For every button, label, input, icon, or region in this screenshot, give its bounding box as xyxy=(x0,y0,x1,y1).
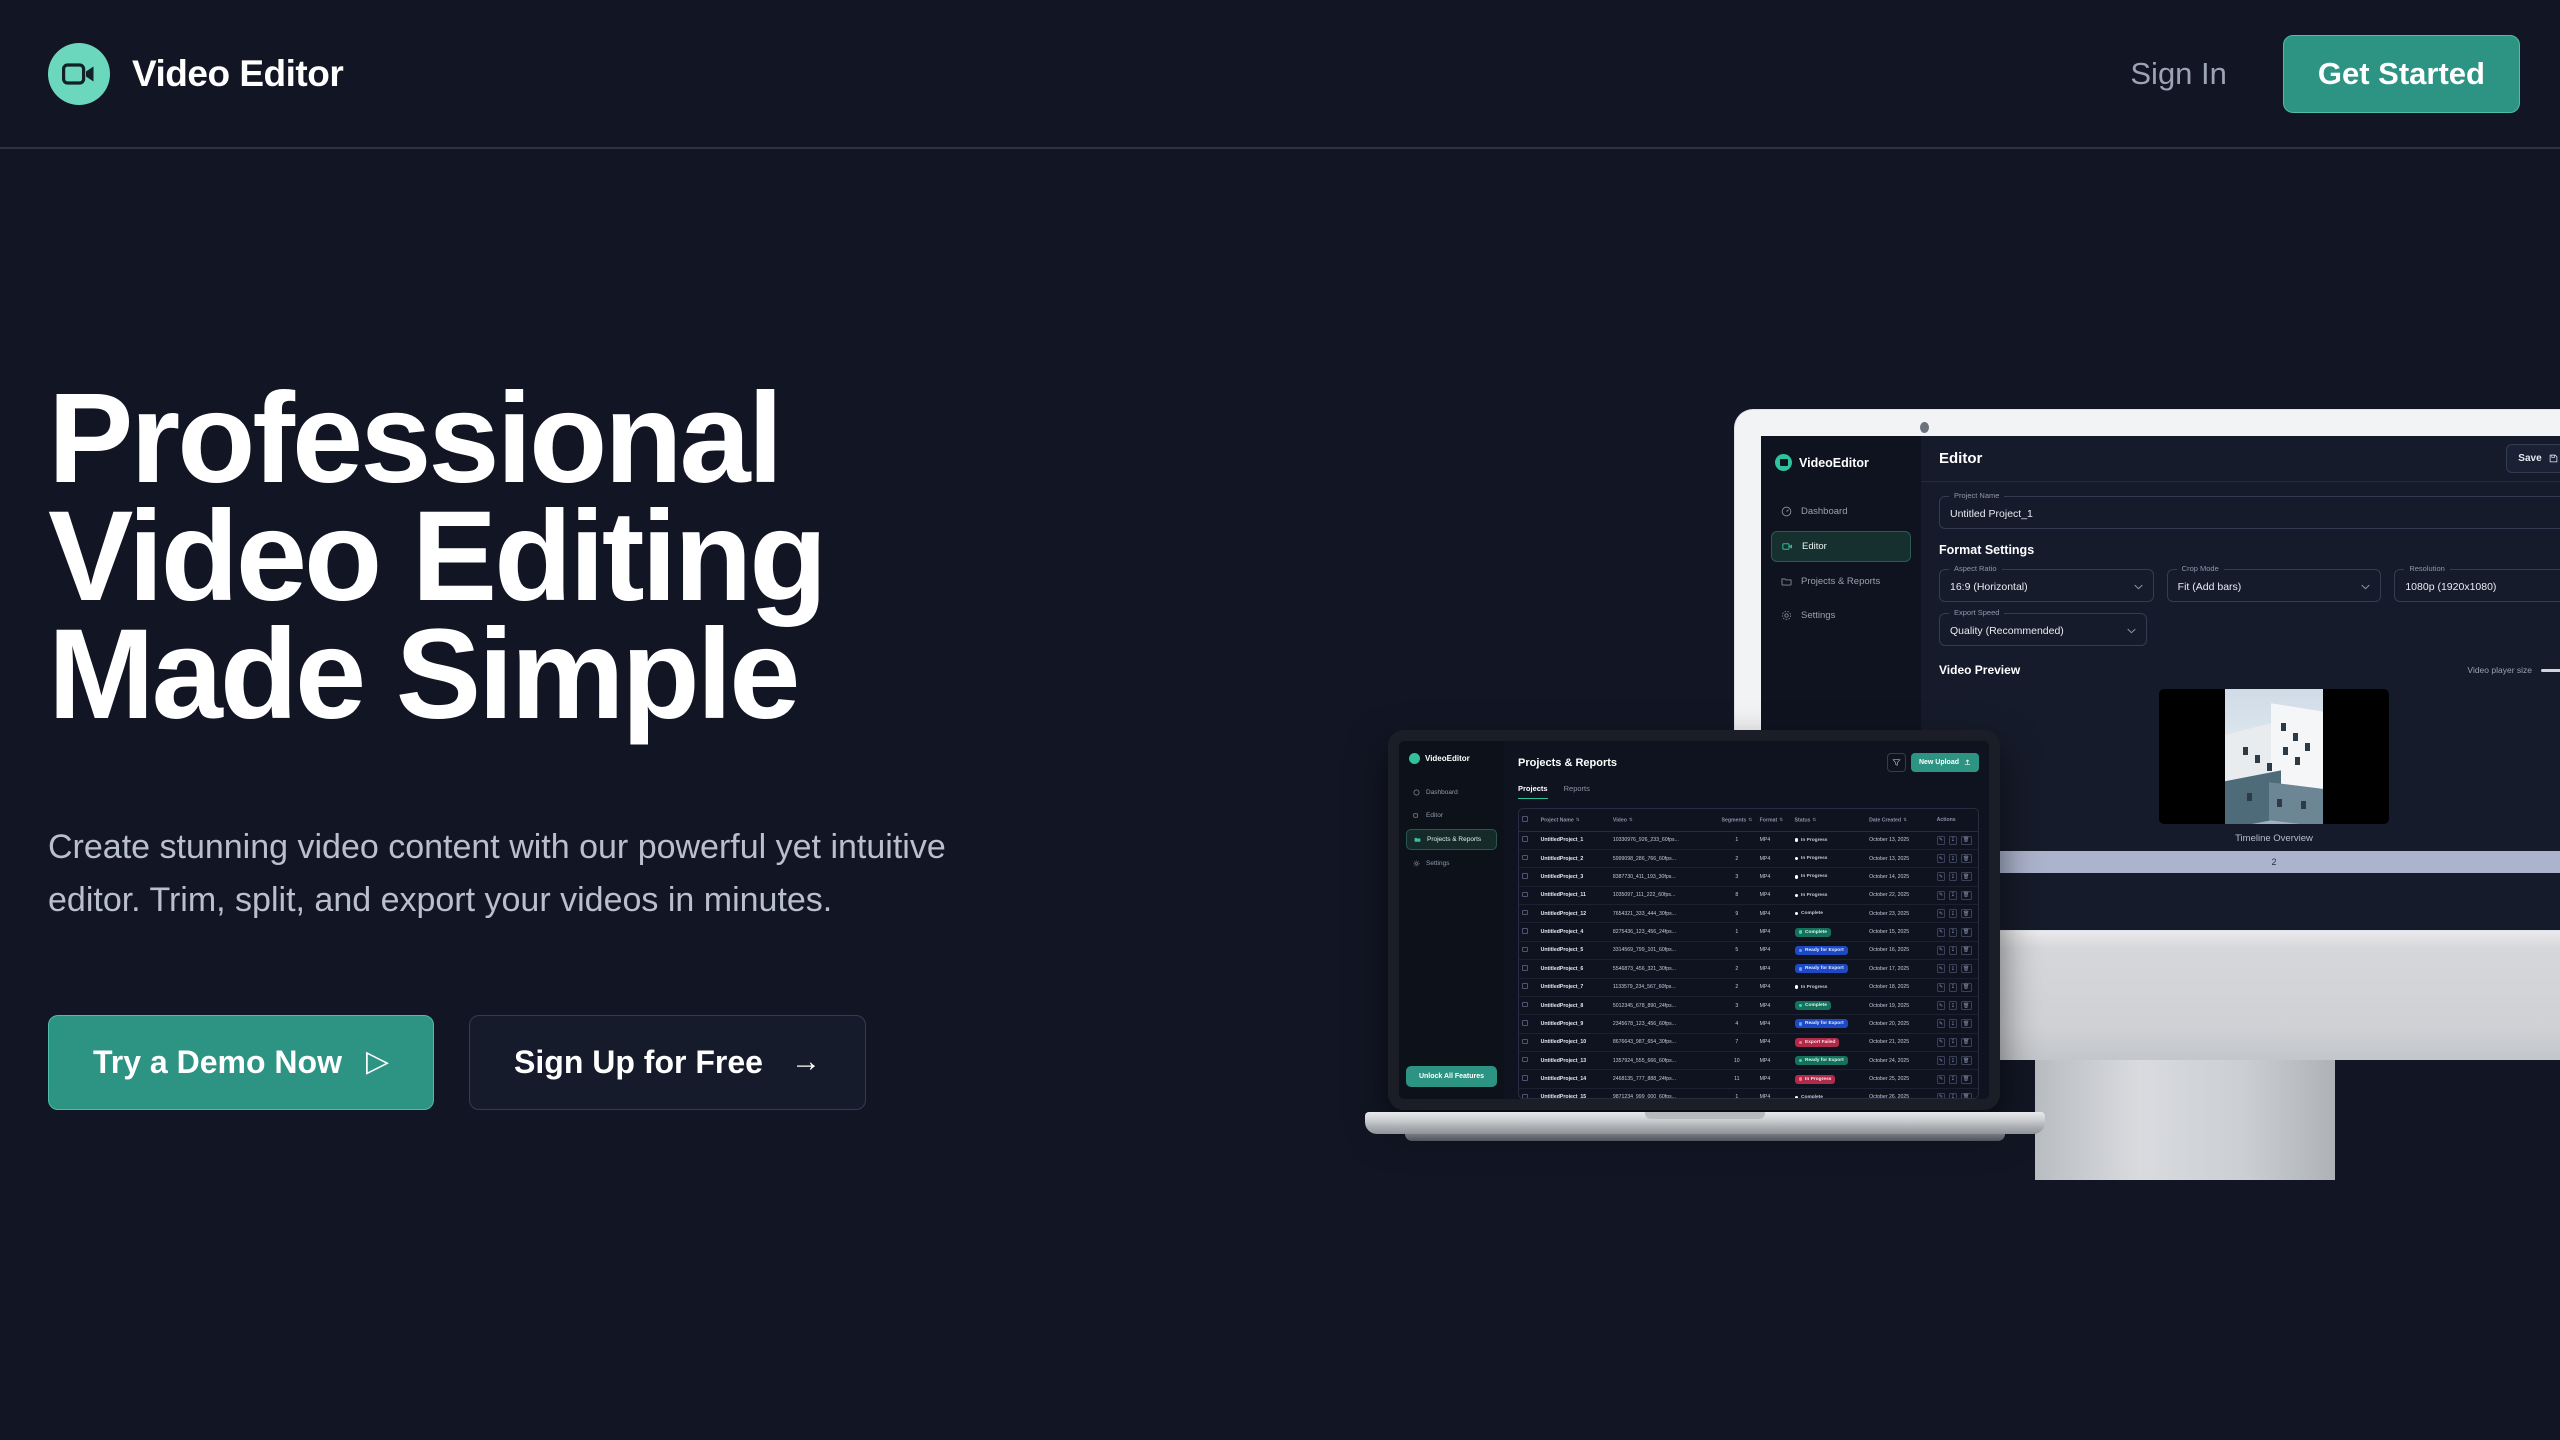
cell-video: 10330976_926_233_60fps... xyxy=(1610,831,1717,849)
cell-project-name: UntitledProject_15 xyxy=(1538,1088,1610,1099)
cell-actions: ✎↧🗑 xyxy=(1934,886,1978,904)
row-checkbox[interactable] xyxy=(1519,1015,1538,1033)
tab-reports[interactable]: Reports xyxy=(1564,784,1590,799)
table-row[interactable]: UntitledProject_85012345_678_890_24fps..… xyxy=(1519,996,1978,1014)
folder-icon xyxy=(1781,576,1792,587)
column-select-all[interactable] xyxy=(1519,809,1538,831)
sort-icon[interactable]: ⇅ xyxy=(1629,817,1633,823)
edit-icon[interactable]: ✎ xyxy=(1937,1001,1946,1010)
cell-status: Complete xyxy=(1792,1088,1867,1099)
checkbox-icon[interactable] xyxy=(1522,1020,1528,1026)
row-checkbox[interactable] xyxy=(1519,978,1538,996)
heading-line-1: Professional xyxy=(48,380,1148,498)
export-speed-select[interactable]: Export Speed Quality (Recommended) xyxy=(1939,613,2147,646)
cell-date-created: October 13, 2025 xyxy=(1866,831,1934,849)
table-row[interactable]: UntitledProject_159871234_999_000_60fps.… xyxy=(1519,1088,1978,1099)
sign-in-button[interactable]: Sign In xyxy=(2130,56,2227,92)
column-segments[interactable]: Segments⇅ xyxy=(1717,809,1757,831)
filter-funnel-icon[interactable] xyxy=(1887,753,1906,772)
sidebar-item-label: Editor xyxy=(1802,541,1827,552)
edit-icon[interactable]: ✎ xyxy=(1937,964,1946,973)
column-video[interactable]: Video⇅ xyxy=(1610,809,1717,831)
cell-segments: 1 xyxy=(1717,831,1757,849)
unlock-all-features-button[interactable]: Unlock All Features xyxy=(1406,1066,1497,1087)
cell-actions: ✎↧🗑 xyxy=(1934,849,1978,867)
cell-date-created: October 24, 2025 xyxy=(1866,1052,1934,1070)
laptop-notch xyxy=(1645,1112,1765,1119)
cell-date-created: October 19, 2025 xyxy=(1866,996,1934,1014)
edit-icon[interactable]: ✎ xyxy=(1937,983,1946,992)
status-badge: In Progress xyxy=(1795,872,1832,881)
upload-icon xyxy=(1964,759,1971,766)
sidebar-item-editor[interactable]: Editor xyxy=(1406,806,1497,825)
project-name-value: Untitled Project_1 xyxy=(1950,508,2560,520)
checkbox-icon[interactable] xyxy=(1522,965,1528,971)
download-icon[interactable]: ↧ xyxy=(1949,928,1958,937)
checkbox-icon[interactable] xyxy=(1522,1094,1528,1099)
laptop-page-header: Projects & Reports New Upload xyxy=(1518,753,1979,772)
table-body: UntitledProject_110330976_926_233_60fps.… xyxy=(1519,831,1978,1099)
cell-format: MP4 xyxy=(1757,960,1792,978)
cell-project-name: UntitledProject_8 xyxy=(1538,996,1610,1014)
delete-icon[interactable]: 🗑 xyxy=(1961,983,1972,992)
cell-status: Ready for Export xyxy=(1792,1015,1867,1033)
edit-icon[interactable]: ✎ xyxy=(1937,1056,1946,1065)
laptop-brand: VideoEditor xyxy=(1406,753,1497,764)
laptop-brand-name: VideoEditor xyxy=(1425,754,1470,763)
download-icon[interactable]: ↧ xyxy=(1949,891,1958,900)
cell-video: 2468135_777_888_24fps... xyxy=(1610,1070,1717,1088)
delete-icon[interactable]: 🗑 xyxy=(1961,928,1972,937)
video-camera-icon xyxy=(1413,812,1420,819)
sort-icon[interactable]: ⇅ xyxy=(1576,817,1580,823)
sidebar-item-label: Projects & Reports xyxy=(1801,576,1880,587)
sign-up-free-label: Sign Up for Free xyxy=(514,1044,763,1081)
sidebar-item-label: Settings xyxy=(1801,610,1835,621)
editor-topbar-actions: Save Exp xyxy=(2506,444,2560,473)
arrow-right-icon: → xyxy=(791,1047,821,1077)
cell-status: Complete xyxy=(1792,996,1867,1014)
cell-video: 8676643_987_654_30fps... xyxy=(1610,1033,1717,1051)
chevron-down-icon xyxy=(2134,583,2143,589)
checkbox-icon[interactable] xyxy=(1522,1039,1528,1045)
cell-actions: ✎↧🗑 xyxy=(1934,905,1978,923)
delete-icon[interactable]: 🗑 xyxy=(1961,1056,1972,1065)
cell-actions: ✎↧🗑 xyxy=(1934,831,1978,849)
editor-brand-name: VideoEditor xyxy=(1799,456,1869,470)
crop-mode-select[interactable]: Crop Mode Fit (Add bars) xyxy=(2167,569,2382,602)
cell-format: MP4 xyxy=(1757,831,1792,849)
download-icon[interactable]: ↧ xyxy=(1949,1075,1958,1084)
download-icon[interactable]: ↧ xyxy=(1949,854,1958,863)
cell-actions: ✎↧🗑 xyxy=(1934,960,1978,978)
aspect-ratio-value: 16:9 (Horizontal) xyxy=(1950,581,2143,593)
edit-icon[interactable]: ✎ xyxy=(1937,872,1946,881)
cell-status: In Progress xyxy=(1792,849,1867,867)
cell-status: In Progress xyxy=(1792,1070,1867,1088)
gear-icon xyxy=(1413,860,1420,867)
row-checkbox[interactable] xyxy=(1519,996,1538,1014)
sidebar-item-settings[interactable]: Settings xyxy=(1406,854,1497,873)
cell-project-name: UntitledProject_13 xyxy=(1538,1052,1610,1070)
checkbox-icon[interactable] xyxy=(1522,855,1528,861)
cell-actions: ✎↧🗑 xyxy=(1934,978,1978,996)
table-row[interactable]: UntitledProject_92345678_123_456_60fps..… xyxy=(1519,1015,1978,1033)
laptop-header-actions: New Upload xyxy=(1887,753,1979,772)
cell-project-name: UntitledProject_4 xyxy=(1538,923,1610,941)
cell-segments: 7 xyxy=(1717,1033,1757,1051)
status-badge: Ready for Export xyxy=(1795,964,1848,973)
sidebar-item-settings[interactable]: Settings xyxy=(1771,601,1911,630)
delete-icon[interactable]: 🗑 xyxy=(1961,1075,1972,1084)
editor-nav: Dashboard Editor Projects & Reports xyxy=(1771,497,1911,630)
status-badge: In Progress xyxy=(1795,836,1832,845)
delete-icon[interactable]: 🗑 xyxy=(1961,946,1972,955)
download-icon[interactable]: ↧ xyxy=(1949,946,1958,955)
sidebar-item-dashboard[interactable]: Dashboard xyxy=(1771,497,1911,526)
cell-format: MP4 xyxy=(1757,849,1792,867)
cell-video: 3314569_799_101_60fps... xyxy=(1610,941,1717,959)
player-size-slider[interactable] xyxy=(2541,669,2560,672)
edit-icon[interactable]: ✎ xyxy=(1937,1093,1946,1099)
cell-project-name: UntitledProject_14 xyxy=(1538,1070,1610,1088)
try-demo-label: Try a Demo Now xyxy=(93,1044,342,1081)
download-icon[interactable]: ↧ xyxy=(1949,872,1958,881)
cell-project-name: UntitledProject_9 xyxy=(1538,1015,1610,1033)
editor-brand: VideoEditor xyxy=(1771,454,1911,471)
delete-icon[interactable]: 🗑 xyxy=(1961,1093,1972,1099)
cell-date-created: October 15, 2025 xyxy=(1866,923,1934,941)
cell-video: 1035097_111_222_60fps... xyxy=(1610,886,1717,904)
status-badge: Complete xyxy=(1795,1093,1827,1099)
cell-project-name: UntitledProject_3 xyxy=(1538,868,1610,886)
cell-project-name: UntitledProject_6 xyxy=(1538,960,1610,978)
new-upload-label: New Upload xyxy=(1919,759,1959,766)
edit-icon[interactable]: ✎ xyxy=(1937,854,1946,863)
cell-status: In Progress xyxy=(1792,831,1867,849)
cell-segments: 2 xyxy=(1717,978,1757,996)
cell-status: In Progress xyxy=(1792,886,1867,904)
project-name-field[interactable]: Project Name Untitled Project_1 xyxy=(1939,496,2560,529)
status-badge: Ready for Export xyxy=(1795,1056,1848,1065)
table-row[interactable]: UntitledProject_127654321_333_444_30fps.… xyxy=(1519,905,1978,923)
edit-icon[interactable]: ✎ xyxy=(1937,909,1946,918)
cell-actions: ✎↧🗑 xyxy=(1934,1052,1978,1070)
format-row-2: Export Speed Quality (Recommended) xyxy=(1939,613,2560,657)
cell-segments: 10 xyxy=(1717,1052,1757,1070)
resolution-label: Resolution xyxy=(2404,564,2449,573)
row-checkbox[interactable] xyxy=(1519,941,1538,959)
video-camera-icon xyxy=(1775,454,1792,471)
sign-up-free-button[interactable]: Sign Up for Free → xyxy=(469,1015,866,1110)
table-row[interactable]: UntitledProject_71133579_234_567_60fps..… xyxy=(1519,978,1978,996)
checkbox-icon[interactable] xyxy=(1522,1057,1528,1063)
cell-segments: 1 xyxy=(1717,1088,1757,1099)
download-icon[interactable]: ↧ xyxy=(1949,1001,1958,1010)
projects-table: Project Name⇅ Video⇅ Segments⇅ Format⇅ S… xyxy=(1519,809,1978,1099)
download-icon[interactable]: ↧ xyxy=(1949,836,1958,845)
row-checkbox[interactable] xyxy=(1519,960,1538,978)
save-label: Save xyxy=(2518,453,2541,464)
cell-date-created: October 25, 2025 xyxy=(1866,1070,1934,1088)
sidebar-item-projects-reports[interactable]: Projects & Reports xyxy=(1771,567,1911,596)
table-row[interactable]: UntitledProject_131357924_555_666_60fps.… xyxy=(1519,1052,1978,1070)
brand-name: Video Editor xyxy=(132,53,343,95)
row-checkbox[interactable] xyxy=(1519,1070,1538,1088)
delete-icon[interactable]: 🗑 xyxy=(1961,964,1972,973)
cell-actions: ✎↧🗑 xyxy=(1934,1015,1978,1033)
checkbox-icon[interactable] xyxy=(1522,892,1528,898)
save-button[interactable]: Save xyxy=(2506,444,2560,473)
page-title: Professional Video Editing Made Simple xyxy=(48,380,1148,733)
crop-mode-label: Crop Mode xyxy=(2177,564,2224,573)
download-icon[interactable]: ↧ xyxy=(1949,983,1958,992)
cell-date-created: October 23, 2025 xyxy=(1866,905,1934,923)
brand-logo-group[interactable]: Video Editor xyxy=(48,43,343,105)
cell-format: MP4 xyxy=(1757,923,1792,941)
cell-status: Ready for Export xyxy=(1792,941,1867,959)
chevron-down-icon xyxy=(2127,627,2136,633)
status-badge: In Progress xyxy=(1795,983,1832,992)
cell-date-created: October 21, 2025 xyxy=(1866,1033,1934,1051)
monitor-camera-icon xyxy=(1920,422,1929,433)
new-upload-button[interactable]: New Upload xyxy=(1911,753,1979,772)
cell-video: 8387730_411_193_30fps... xyxy=(1610,868,1717,886)
row-checkbox[interactable] xyxy=(1519,868,1538,886)
sidebar-item-label: Dashboard xyxy=(1426,789,1458,796)
laptop-screen: VideoEditor Dashboard Editor xyxy=(1399,741,1989,1099)
column-actions: Actions xyxy=(1934,809,1978,831)
row-checkbox[interactable] xyxy=(1519,923,1538,941)
play-triangle-icon: ▷ xyxy=(366,1047,389,1077)
row-checkbox[interactable] xyxy=(1519,886,1538,904)
sort-icon[interactable]: ⇅ xyxy=(1812,817,1816,823)
cell-segments: 5 xyxy=(1717,941,1757,959)
sidebar-item-label: Projects & Reports xyxy=(1427,836,1481,843)
sidebar-item-editor[interactable]: Editor xyxy=(1771,531,1911,562)
delete-icon[interactable]: 🗑 xyxy=(1961,854,1972,863)
hero-subtitle: Create stunning video content with our p… xyxy=(48,821,1108,926)
column-project-name[interactable]: Project Name⇅ xyxy=(1538,809,1610,831)
edit-icon[interactable]: ✎ xyxy=(1937,836,1946,845)
project-name-label: Project Name xyxy=(1949,491,2004,500)
player-size-label: Video player size xyxy=(2467,665,2532,675)
cell-segments: 3 xyxy=(1717,996,1757,1014)
aspect-ratio-select[interactable]: Aspect Ratio 16:9 (Horizontal) xyxy=(1939,569,2154,602)
laptop-page-title: Projects & Reports xyxy=(1518,757,1617,769)
cell-video: 1357924_555_666_60fps... xyxy=(1610,1052,1717,1070)
cell-segments: 4 xyxy=(1717,1015,1757,1033)
format-settings-title: Format Settings xyxy=(1939,543,2560,557)
cell-format: MP4 xyxy=(1757,1015,1792,1033)
sort-icon[interactable]: ⇅ xyxy=(1779,817,1783,823)
cell-actions: ✎↧🗑 xyxy=(1934,1033,1978,1051)
cell-segments: 8 xyxy=(1717,886,1757,904)
cell-project-name: UntitledProject_12 xyxy=(1538,905,1610,923)
try-demo-button[interactable]: Try a Demo Now ▷ xyxy=(48,1015,434,1110)
checkbox-icon[interactable] xyxy=(1522,1075,1528,1081)
tab-projects[interactable]: Projects xyxy=(1518,784,1548,799)
edit-icon[interactable]: ✎ xyxy=(1937,1075,1946,1084)
sidebar-item-dashboard[interactable]: Dashboard xyxy=(1406,783,1497,802)
speedometer-icon xyxy=(1781,506,1792,517)
cell-video: 1133579_234_567_60fps... xyxy=(1610,978,1717,996)
table-row[interactable]: UntitledProject_65546873_456_321_30fps..… xyxy=(1519,960,1978,978)
edit-icon[interactable]: ✎ xyxy=(1937,891,1946,900)
video-camera-icon xyxy=(1782,541,1793,552)
aspect-ratio-label: Aspect Ratio xyxy=(1949,564,2002,573)
video-camera-icon xyxy=(48,43,110,105)
laptop-foot xyxy=(1405,1134,2005,1141)
export-speed-value: Quality (Recommended) xyxy=(1950,625,2136,637)
hero-subtitle-line-2: editor. Trim, split, and export your vid… xyxy=(48,874,1108,927)
checkbox-icon[interactable] xyxy=(1522,873,1528,879)
download-icon[interactable]: ↧ xyxy=(1949,1056,1958,1065)
cell-status: Ready for Export xyxy=(1792,960,1867,978)
status-badge: Export Failed xyxy=(1795,1038,1840,1047)
table-header-row: Project Name⇅ Video⇅ Segments⇅ Format⇅ S… xyxy=(1519,809,1978,831)
cell-actions: ✎↧🗑 xyxy=(1934,941,1978,959)
row-checkbox[interactable] xyxy=(1519,1088,1538,1099)
edit-icon[interactable]: ✎ xyxy=(1937,946,1946,955)
row-checkbox[interactable] xyxy=(1519,1052,1538,1070)
checkbox-icon[interactable] xyxy=(1522,928,1528,934)
edit-icon[interactable]: ✎ xyxy=(1937,1038,1946,1047)
cell-format: MP4 xyxy=(1757,1070,1792,1088)
get-started-button[interactable]: Get Started xyxy=(2283,35,2520,113)
cell-segments: 2 xyxy=(1717,849,1757,867)
column-status[interactable]: Status⇅ xyxy=(1792,809,1867,831)
cell-segments: 11 xyxy=(1717,1070,1757,1088)
video-preview-player[interactable] xyxy=(2159,689,2389,824)
cell-status: Complete xyxy=(1792,923,1867,941)
status-badge: Complete xyxy=(1795,909,1827,918)
checkbox-icon[interactable] xyxy=(1522,983,1528,989)
cell-actions: ✎↧🗑 xyxy=(1934,996,1978,1014)
video-preview-label: Video Preview xyxy=(1939,663,2020,677)
export-speed-label: Export Speed xyxy=(1949,608,2004,617)
cell-actions: ✎↧🗑 xyxy=(1934,868,1978,886)
cell-video: 5546873_456_321_30fps... xyxy=(1610,960,1717,978)
cell-format: MP4 xyxy=(1757,886,1792,904)
cell-date-created: October 22, 2025 xyxy=(1866,886,1934,904)
download-icon[interactable]: ↧ xyxy=(1949,1019,1958,1028)
cell-format: MP4 xyxy=(1757,1052,1792,1070)
delete-icon[interactable]: 🗑 xyxy=(1961,909,1972,918)
delete-icon[interactable]: 🗑 xyxy=(1961,1001,1972,1010)
checkbox-icon[interactable] xyxy=(1522,1002,1528,1008)
table-row[interactable]: UntitledProject_111035097_111_222_60fps.… xyxy=(1519,886,1978,904)
row-checkbox[interactable] xyxy=(1519,831,1538,849)
row-checkbox[interactable] xyxy=(1519,849,1538,867)
table-row[interactable]: UntitledProject_142468135_777_888_24fps.… xyxy=(1519,1070,1978,1088)
table-row[interactable]: UntitledProject_48275436_123_456_24fps..… xyxy=(1519,923,1978,941)
cell-segments: 1 xyxy=(1717,923,1757,941)
column-format[interactable]: Format⇅ xyxy=(1757,809,1792,831)
cell-format: MP4 xyxy=(1757,868,1792,886)
speedometer-icon xyxy=(1413,789,1420,796)
hero-cta-group: Try a Demo Now ▷ Sign Up for Free → xyxy=(48,1015,1148,1110)
table-row[interactable]: UntitledProject_25999098_286_766_60fps..… xyxy=(1519,849,1978,867)
checkbox-icon[interactable] xyxy=(1522,816,1528,822)
cell-project-name: UntitledProject_10 xyxy=(1538,1033,1610,1051)
table-header: Project Name⇅ Video⇅ Segments⇅ Format⇅ S… xyxy=(1519,809,1978,831)
cell-actions: ✎↧🗑 xyxy=(1934,1070,1978,1088)
player-size-control[interactable]: Video player size xyxy=(2467,665,2560,675)
column-date-created[interactable]: Date Created⇅ xyxy=(1866,809,1934,831)
edit-icon[interactable]: ✎ xyxy=(1937,1019,1946,1028)
delete-icon[interactable]: 🗑 xyxy=(1961,1038,1972,1047)
sort-icon[interactable]: ⇅ xyxy=(1903,817,1907,823)
cell-format: MP4 xyxy=(1757,978,1792,996)
row-checkbox[interactable] xyxy=(1519,1033,1538,1051)
status-badge: Ready for Export xyxy=(1795,1019,1848,1028)
cell-video: 8275436_123_456_24fps... xyxy=(1610,923,1717,941)
building-photo xyxy=(2225,689,2323,824)
editor-topbar: Editor Save Exp xyxy=(1921,436,2560,482)
edit-icon[interactable]: ✎ xyxy=(1937,928,1946,937)
sidebar-item-label: Editor xyxy=(1426,812,1443,819)
cell-actions: ✎↧🗑 xyxy=(1934,923,1978,941)
heading-line-3: Made Simple xyxy=(48,616,1148,734)
checkbox-icon[interactable] xyxy=(1522,836,1528,842)
cell-date-created: October 26, 2025 xyxy=(1866,1088,1934,1099)
resolution-select[interactable]: Resolution 1080p (1920x1080) xyxy=(2394,569,2560,602)
cell-actions: ✎↧🗑 xyxy=(1934,1088,1978,1099)
download-icon[interactable]: ↧ xyxy=(1949,1093,1958,1099)
download-icon[interactable]: ↧ xyxy=(1949,964,1958,973)
cell-format: MP4 xyxy=(1757,996,1792,1014)
cell-format: MP4 xyxy=(1757,1033,1792,1051)
cell-project-name: UntitledProject_1 xyxy=(1538,831,1610,849)
table-row[interactable]: UntitledProject_108676643_987_654_30fps.… xyxy=(1519,1033,1978,1051)
status-badge: In Progress xyxy=(1795,854,1832,863)
delete-icon[interactable]: 🗑 xyxy=(1961,1019,1972,1028)
checkbox-icon[interactable] xyxy=(1522,947,1528,953)
cell-status: In Progress xyxy=(1792,978,1867,996)
delete-icon[interactable]: 🗑 xyxy=(1961,891,1972,900)
delete-icon[interactable]: 🗑 xyxy=(1961,836,1972,845)
row-checkbox[interactable] xyxy=(1519,905,1538,923)
cell-status: In Progress xyxy=(1792,868,1867,886)
laptop-tabs: Projects Reports xyxy=(1518,784,1979,799)
floppy-disk-icon xyxy=(2549,454,2558,463)
video-camera-icon xyxy=(1409,753,1420,764)
table-row[interactable]: UntitledProject_38387730_411_193_30fps..… xyxy=(1519,868,1978,886)
cell-date-created: October 18, 2025 xyxy=(1866,978,1934,996)
timeline-value: 2 xyxy=(2271,857,2276,867)
cell-format: MP4 xyxy=(1757,1088,1792,1099)
sort-icon[interactable]: ⇅ xyxy=(1748,817,1752,823)
folder-icon xyxy=(1414,836,1421,843)
cell-segments: 2 xyxy=(1717,960,1757,978)
download-icon[interactable]: ↧ xyxy=(1949,1038,1958,1047)
table-row[interactable]: UntitledProject_110330976_926_233_60fps.… xyxy=(1519,831,1978,849)
download-icon[interactable]: ↧ xyxy=(1949,909,1958,918)
laptop-nav: Dashboard Editor Projects & Reports xyxy=(1406,783,1497,873)
checkbox-icon[interactable] xyxy=(1522,910,1528,916)
sidebar-item-projects-reports[interactable]: Projects & Reports xyxy=(1406,829,1497,850)
header-actions: Sign In Get Started xyxy=(2130,35,2520,113)
laptop-sidebar: VideoEditor Dashboard Editor xyxy=(1399,741,1504,1099)
cell-format: MP4 xyxy=(1757,905,1792,923)
status-badge: In Progress xyxy=(1795,1075,1836,1084)
projects-table-wrapper: Project Name⇅ Video⇅ Segments⇅ Format⇅ S… xyxy=(1518,808,1979,1099)
cell-date-created: October 20, 2025 xyxy=(1866,1015,1934,1033)
delete-icon[interactable]: 🗑 xyxy=(1961,872,1972,881)
sidebar-item-label: Settings xyxy=(1426,860,1450,867)
table-row[interactable]: UntitledProject_53314569_799_101_60fps..… xyxy=(1519,941,1978,959)
